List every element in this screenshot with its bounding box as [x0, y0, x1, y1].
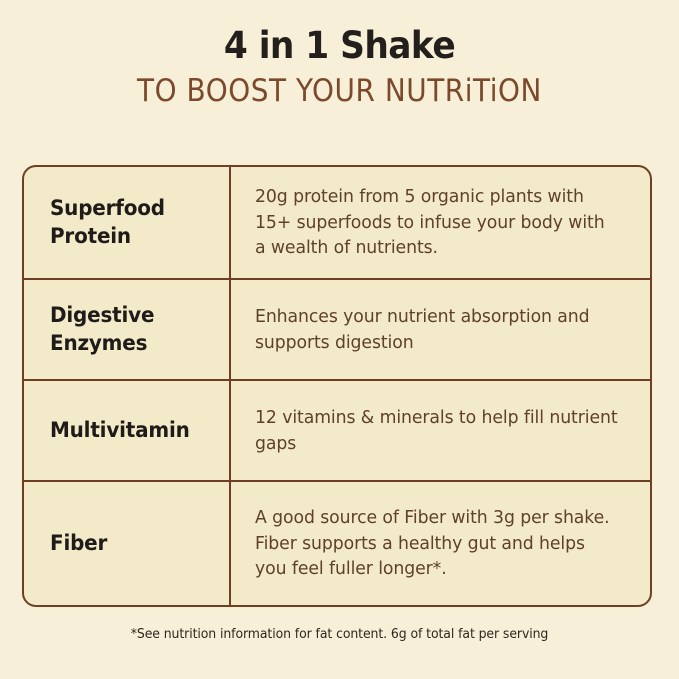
table-row: Digestive Enzymes Enhances your nutrient… [24, 280, 650, 381]
table-cell-description: 20g protein from 5 organic plants with 1… [231, 167, 650, 278]
table-cell-label: Multivitamin [24, 381, 231, 480]
benefit-label-fiber: Fiber [50, 530, 107, 558]
table-row: Multivitamin 12 vitamins & minerals to h… [24, 381, 650, 482]
benefits-table: Superfood Protein 20g protein from 5 org… [22, 165, 652, 607]
benefit-description-fiber: A good source of Fiber with 3g per shake… [255, 505, 619, 582]
page-subtitle: TO BOOST YOUR NUTRiTiON [34, 74, 645, 109]
table-row: Fiber A good source of Fiber with 3g per… [24, 482, 650, 605]
header: 4 in 1 Shake TO BOOST YOUR NUTRiTiON [0, 26, 679, 109]
table-cell-label: Superfood Protein [24, 167, 231, 278]
table-row: Superfood Protein 20g protein from 5 org… [24, 167, 650, 280]
table-cell-label: Fiber [24, 482, 231, 605]
benefit-label-multivitamin: Multivitamin [50, 417, 190, 445]
benefit-description-multivitamin: 12 vitamins & minerals to help fill nutr… [255, 405, 619, 456]
page-title: 4 in 1 Shake [24, 26, 655, 65]
table-cell-description: 12 vitamins & minerals to help fill nutr… [231, 381, 650, 480]
benefit-label-superfood-protein: Superfood Protein [50, 195, 220, 250]
table-cell-label: Digestive Enzymes [24, 280, 231, 379]
benefit-description-digestive-enzymes: Enhances your nutrient absorption and su… [255, 304, 619, 355]
table-cell-description: A good source of Fiber with 3g per shake… [231, 482, 650, 605]
table-body: Superfood Protein 20g protein from 5 org… [24, 167, 650, 605]
footnote: *See nutrition information for fat conte… [14, 627, 666, 642]
infographic-page: 4 in 1 Shake TO BOOST YOUR NUTRiTiON Sup… [0, 0, 679, 679]
benefit-description-superfood-protein: 20g protein from 5 organic plants with 1… [255, 184, 619, 261]
benefit-label-digestive-enzymes: Digestive Enzymes [50, 302, 220, 357]
table-cell-description: Enhances your nutrient absorption and su… [231, 280, 650, 379]
